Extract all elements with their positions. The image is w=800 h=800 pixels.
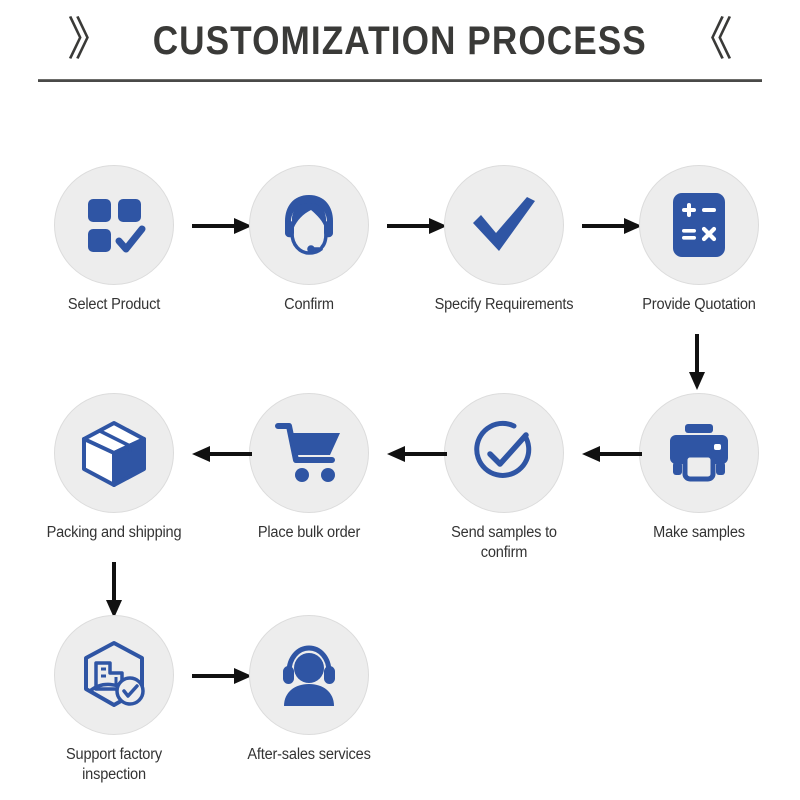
step-label: Support factory inspection bbox=[39, 745, 189, 785]
step-label: After-sales services bbox=[234, 745, 384, 765]
arrow-left-1 bbox=[582, 443, 642, 465]
support-agent-icon bbox=[274, 642, 344, 708]
step-after-sales-services[interactable]: After-sales services bbox=[229, 615, 389, 765]
arrow-left-2 bbox=[387, 443, 447, 465]
step-label: Select Product bbox=[39, 295, 189, 315]
factory-inspection-shield-icon bbox=[78, 639, 150, 711]
step-confirm[interactable]: Confirm bbox=[229, 165, 389, 315]
circle-check-icon bbox=[469, 418, 539, 488]
step-label: Packing and shipping bbox=[39, 523, 189, 543]
step-label: Place bulk order bbox=[234, 523, 384, 543]
customization-process-infographic: 》 CUSTOMIZATION PROCESS 《 Select Product bbox=[0, 0, 800, 800]
step-packing-and-shipping[interactable]: Packing and shipping bbox=[34, 393, 194, 543]
step-provide-quotation[interactable]: Provide Quotation bbox=[619, 165, 779, 315]
step-send-samples-to-confirm[interactable]: Send samples to confirm bbox=[424, 393, 584, 563]
step-specify-requirements[interactable]: Specify Requirements bbox=[424, 165, 584, 315]
step-circle bbox=[249, 393, 369, 513]
step-support-factory-inspection[interactable]: Support factory inspection bbox=[34, 615, 194, 785]
step-circle bbox=[249, 615, 369, 735]
process-flow: Select Product bbox=[0, 0, 800, 800]
step-label: Send samples to confirm bbox=[429, 523, 579, 563]
step-circle bbox=[54, 615, 174, 735]
shopping-cart-icon bbox=[274, 420, 344, 486]
arrow-down-right bbox=[686, 334, 708, 390]
step-make-samples[interactable]: Make samples bbox=[619, 393, 779, 543]
arrow-down-left bbox=[103, 562, 125, 618]
step-label: Make samples bbox=[624, 523, 774, 543]
step-circle bbox=[444, 393, 564, 513]
step-circle bbox=[639, 393, 759, 513]
checkmark-icon bbox=[469, 193, 539, 257]
step-circle bbox=[54, 165, 174, 285]
step-circle bbox=[54, 393, 174, 513]
step-circle bbox=[249, 165, 369, 285]
calculator-icon bbox=[669, 191, 729, 259]
step-select-product[interactable]: Select Product bbox=[34, 165, 194, 315]
step-circle bbox=[444, 165, 564, 285]
printer-icon bbox=[666, 422, 732, 484]
operator-headset-icon bbox=[273, 189, 345, 261]
step-circle bbox=[639, 165, 759, 285]
arrow-left-3 bbox=[192, 443, 252, 465]
grid-check-icon bbox=[82, 193, 146, 257]
step-place-bulk-order[interactable]: Place bulk order bbox=[229, 393, 389, 543]
step-label: Confirm bbox=[234, 295, 384, 315]
step-label: Provide Quotation bbox=[624, 295, 774, 315]
package-box-icon bbox=[78, 419, 150, 487]
step-label: Specify Requirements bbox=[429, 295, 579, 315]
